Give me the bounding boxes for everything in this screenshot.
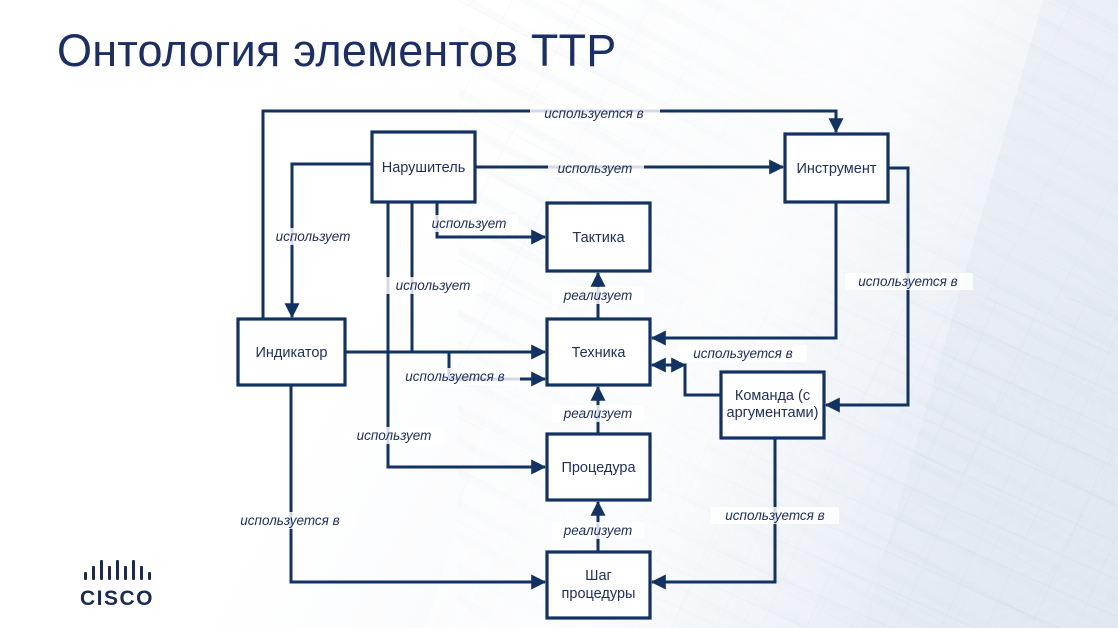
edge-label-tehnika-taktika: реализует xyxy=(563,288,633,303)
edge-label-indikator-shag: используется в xyxy=(240,513,339,528)
node-narushitel[interactable]: Нарушитель xyxy=(372,132,475,202)
edge-label-indikator-tehnika: используется в xyxy=(405,369,504,384)
node-label-komanda-line2: аргументами) xyxy=(727,405,819,421)
edge-label-instrument-komanda: используется в xyxy=(858,274,957,289)
edge-label-shag-procedura: реализует xyxy=(563,523,633,538)
edge-instrument-tehnika xyxy=(652,202,836,338)
edge-label-komanda-shag: используется в xyxy=(725,508,824,523)
edge-label-indikator-instrument: используется в xyxy=(544,106,643,121)
edge-komanda-tehnika-path xyxy=(652,365,721,395)
node-label-instrument: Инструмент xyxy=(797,161,877,177)
edge-label-narushitel-indikator: использует xyxy=(276,229,351,244)
node-komanda[interactable]: Команда (с аргументами) xyxy=(721,372,824,438)
edge-label-procedura-tehnika: реализует xyxy=(563,406,633,421)
node-layer: Нарушитель Инструмент Тактика Индикатор … xyxy=(238,132,888,618)
cisco-bar-5 xyxy=(116,560,119,580)
edge-label-narushitel-taktika: использует xyxy=(432,216,507,231)
node-label-komanda-line1: Команда (с xyxy=(735,388,810,404)
cisco-bar-2 xyxy=(92,566,95,580)
node-tehnika[interactable]: Техника xyxy=(547,319,650,385)
edge-indikator-shag xyxy=(291,385,545,582)
edge-label-narushitel-tehnika: использует xyxy=(396,278,471,293)
node-label-shag-line1: Шаг xyxy=(585,568,612,584)
slide-canvas: Онтология элементов TTP xyxy=(0,0,1118,628)
node-taktika[interactable]: Тактика xyxy=(547,203,650,271)
cisco-bar-9 xyxy=(148,572,151,580)
node-label-tehnika: Техника xyxy=(572,345,627,361)
node-label-procedura: Процедура xyxy=(561,460,636,476)
edge-label-narushitel-instrument: использует xyxy=(558,161,633,176)
node-label-shag-line2: процедуры xyxy=(562,586,636,602)
edge-label-narushitel-procedura: использует xyxy=(357,428,432,443)
node-label-taktika: Тактика xyxy=(572,230,625,246)
node-label-indikator: Индикатор xyxy=(255,345,327,361)
cisco-bar-8 xyxy=(140,566,143,580)
ontology-diagram: используется в использует использует исп… xyxy=(0,0,1118,628)
node-shag-procedury[interactable]: Шаг процедуры xyxy=(547,552,650,618)
cisco-bar-7 xyxy=(132,560,135,580)
cisco-bar-4 xyxy=(108,566,111,580)
cisco-logo: CISCO xyxy=(57,560,177,616)
cisco-bar-1 xyxy=(84,572,87,580)
node-indikator[interactable]: Индикатор xyxy=(238,319,345,385)
node-instrument[interactable]: Инструмент xyxy=(785,134,888,202)
cisco-logo-bars xyxy=(57,560,177,580)
edge-label-komanda-tehnika: используется в xyxy=(693,346,792,361)
cisco-wordmark: CISCO xyxy=(57,587,177,611)
cisco-bar-6 xyxy=(124,566,127,580)
node-procedura[interactable]: Процедура xyxy=(547,434,650,500)
cisco-bar-3 xyxy=(100,560,103,580)
node-label-narushitel: Нарушитель xyxy=(382,160,466,176)
